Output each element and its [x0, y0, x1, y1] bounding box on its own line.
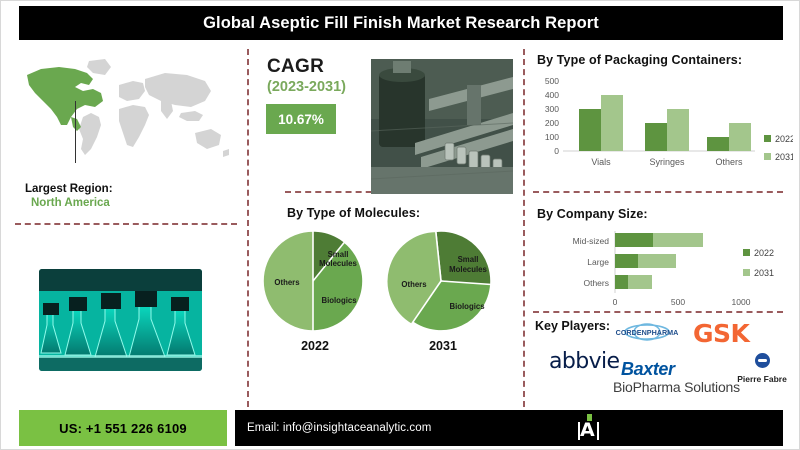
filling-machine-photo	[371, 59, 513, 194]
page-header: Global Aseptic Fill Finish Market Resear…	[19, 6, 783, 40]
svg-text:Others: Others	[583, 278, 609, 288]
svg-text:Mid-sized: Mid-sized	[573, 236, 610, 246]
svg-text:2022: 2022	[775, 134, 793, 144]
cagr-value: 10.67%	[278, 112, 324, 127]
svg-text:Syringes: Syringes	[649, 157, 685, 167]
packaging-chart-title: By Type of Packaging Containers:	[537, 53, 742, 67]
svg-text:500: 500	[545, 76, 559, 86]
divider-horizontal-right-top	[533, 191, 783, 193]
svg-text:Others: Others	[715, 157, 743, 167]
svg-text:Biologics: Biologics	[449, 302, 485, 311]
svg-text:1000: 1000	[732, 297, 751, 307]
divider-horizontal-left	[15, 223, 237, 225]
pierre-fabre-label: Pierre Fabre	[737, 374, 787, 384]
logo-right-bar-icon	[597, 422, 599, 440]
abbvie-logo: abbvie	[549, 349, 619, 374]
svg-text:Molecules: Molecules	[319, 259, 357, 268]
pierre-fabre-mark	[755, 353, 770, 368]
logo-letter: A	[580, 421, 595, 440]
divider-vertical-right	[523, 49, 525, 407]
gsk-logo: GSK	[693, 319, 749, 348]
svg-text:400: 400	[545, 90, 559, 100]
svg-text:200: 200	[545, 118, 559, 128]
pie-2031: Small Molecules Biologics Others 2031	[387, 229, 499, 359]
svg-text:2031: 2031	[754, 268, 774, 278]
molecules-chart-title: By Type of Molecules:	[287, 206, 420, 220]
svg-text:Vials: Vials	[591, 157, 611, 167]
pie-2031-year: 2031	[387, 339, 499, 353]
svg-text:Small: Small	[458, 255, 479, 264]
cordenpharma-logo: CORDENPHARMA	[609, 321, 685, 343]
map-pointer-line	[75, 101, 76, 163]
key-players-title: Key Players:	[535, 319, 610, 333]
footer-phone-text: US: +1 551 226 6109	[59, 421, 187, 436]
lab-flasks-photo	[39, 269, 202, 371]
svg-text:2031: 2031	[775, 152, 793, 162]
svg-text:Small: Small	[328, 250, 349, 259]
svg-text:100: 100	[545, 132, 559, 142]
pie-2022-year: 2022	[259, 339, 371, 353]
company-size-bar-chart: Mid-sized Large Others 0 500 1000 2	[531, 227, 793, 313]
svg-text:0: 0	[554, 146, 559, 156]
svg-text:500: 500	[671, 297, 685, 307]
pie-2022: Small Molecules Biologics Others 2022	[259, 229, 371, 359]
svg-text:Biologics: Biologics	[321, 296, 357, 305]
cagr-badge: 10.67%	[266, 104, 336, 134]
footer-email-text: Email: info@insightaceanalytic.com	[247, 422, 431, 434]
svg-text:300: 300	[545, 104, 559, 114]
page-title: Global Aseptic Fill Finish Market Resear…	[203, 14, 599, 33]
footer-phone-block: US: +1 551 226 6109	[19, 410, 227, 446]
svg-text:2022: 2022	[754, 248, 774, 258]
largest-region-label: Largest Region:	[25, 183, 113, 195]
cagr-period: (2023-2031)	[267, 79, 346, 95]
svg-text:Others: Others	[401, 280, 427, 289]
cagr-title: CAGR	[267, 56, 324, 78]
largest-region-value: North America	[31, 197, 110, 209]
molecules-pie-charts: Small Molecules Biologics Others 2022 Sm…	[259, 229, 509, 359]
baxter-biopharma-solutions-label: BioPharma Solutions	[613, 379, 740, 395]
footer-bar: Email: info@insightaceanalytic.com A	[235, 410, 783, 446]
svg-text:Others: Others	[274, 278, 300, 287]
insightace-logo: A	[575, 413, 605, 443]
company-size-chart-title: By Company Size:	[537, 207, 648, 221]
svg-text:Large: Large	[587, 257, 609, 267]
svg-text:CORDENPHARMA: CORDENPHARMA	[616, 328, 679, 337]
world-map	[15, 51, 237, 169]
svg-text:Molecules: Molecules	[449, 265, 487, 274]
infographic-page: Global Aseptic Fill Finish Market Resear…	[0, 0, 800, 450]
svg-text:0: 0	[613, 297, 618, 307]
pierre-fabre-logo: Pierre Fabre	[731, 353, 793, 385]
packaging-bar-chart: 500 400 300 200 100 0 Vials Syringes O	[535, 73, 793, 183]
divider-vertical-left	[247, 49, 249, 407]
baxter-logo: Baxter	[621, 359, 675, 380]
